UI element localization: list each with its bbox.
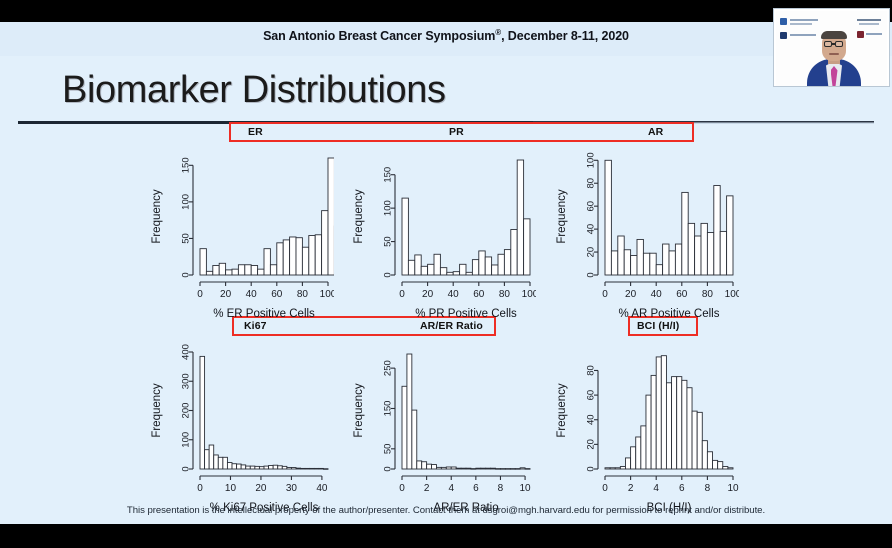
svg-text:2: 2 <box>424 483 430 494</box>
svg-text:150: 150 <box>181 157 192 173</box>
svg-text:% AR Positive Cells: % AR Positive Cells <box>619 308 720 320</box>
svg-text:10: 10 <box>520 483 532 494</box>
svg-text:4: 4 <box>653 483 659 494</box>
svg-text:60: 60 <box>271 289 283 300</box>
svg-text:60: 60 <box>586 390 597 401</box>
chart-er: 050100150020406080100% ER Positive Cells… <box>148 146 334 321</box>
svg-text:50: 50 <box>181 233 192 244</box>
svg-text:2: 2 <box>628 483 634 494</box>
symposium-title-pre: San Antonio Breast Cancer Symposium <box>263 29 495 43</box>
svg-text:20: 20 <box>220 289 232 300</box>
svg-text:6: 6 <box>679 483 685 494</box>
svg-text:80: 80 <box>297 289 309 300</box>
svg-text:60: 60 <box>676 289 688 300</box>
chart-ar: 020406080100020406080100% AR Positive Ce… <box>553 146 739 321</box>
svg-text:100: 100 <box>383 200 394 216</box>
letterbox-bottom <box>0 524 892 548</box>
svg-text:80: 80 <box>586 365 597 376</box>
svg-text:0: 0 <box>586 272 597 277</box>
svg-text:% PR Positive Cells: % PR Positive Cells <box>415 308 517 320</box>
svg-text:60: 60 <box>473 289 485 300</box>
presenter-figure <box>807 24 861 86</box>
page-title: Biomarker Distributions <box>62 69 446 112</box>
svg-text:20: 20 <box>422 289 434 300</box>
svg-text:100: 100 <box>181 432 192 448</box>
chart-arer: 0501502500246810AR/ER RatioFrequency <box>350 340 536 515</box>
svg-text:0: 0 <box>181 272 192 277</box>
svg-text:Frequency: Frequency <box>353 189 365 244</box>
svg-text:6: 6 <box>473 483 479 494</box>
svg-text:0: 0 <box>586 466 597 471</box>
screen: San Antonio Breast Cancer Symposium®, De… <box>0 0 892 548</box>
svg-text:0: 0 <box>399 289 405 300</box>
svg-text:250: 250 <box>383 360 394 376</box>
copyright-footer: This presentation is the intellectual pr… <box>0 505 892 516</box>
label-ar: AR <box>648 126 663 138</box>
svg-text:0: 0 <box>602 289 608 300</box>
svg-text:40: 40 <box>246 289 258 300</box>
label-ki67: Ki67 <box>244 320 267 332</box>
symposium-title: San Antonio Breast Cancer Symposium®, De… <box>0 28 892 43</box>
svg-text:0: 0 <box>602 483 608 494</box>
svg-text:50: 50 <box>383 444 394 455</box>
chart-bci: 0204060800246810BCI (H/I)Frequency <box>553 340 739 515</box>
svg-text:40: 40 <box>316 483 328 494</box>
svg-text:20: 20 <box>625 289 637 300</box>
svg-text:Frequency: Frequency <box>151 189 163 244</box>
chart-pr: 050100150020406080100% PR Positive Cells… <box>350 146 536 321</box>
svg-text:0: 0 <box>399 483 405 494</box>
svg-text:100: 100 <box>586 152 597 168</box>
svg-text:150: 150 <box>383 401 394 417</box>
label-er: ER <box>248 126 263 138</box>
svg-text:Frequency: Frequency <box>151 383 163 438</box>
svg-text:4: 4 <box>448 483 454 494</box>
label-pr: PR <box>449 126 464 138</box>
svg-text:80: 80 <box>702 289 714 300</box>
svg-text:60: 60 <box>586 201 597 212</box>
svg-text:% ER Positive Cells: % ER Positive Cells <box>213 308 315 320</box>
presentation-slide: San Antonio Breast Cancer Symposium®, De… <box>0 22 892 524</box>
svg-text:Frequency: Frequency <box>556 383 568 438</box>
svg-text:0: 0 <box>383 272 394 277</box>
svg-text:20: 20 <box>586 247 597 258</box>
svg-text:10: 10 <box>727 483 739 494</box>
presenter-webcam[interactable] <box>773 8 890 87</box>
svg-text:150: 150 <box>383 167 394 183</box>
svg-text:0: 0 <box>181 466 192 471</box>
svg-text:20: 20 <box>586 439 597 450</box>
letterbox-top <box>0 0 892 22</box>
svg-text:Frequency: Frequency <box>556 189 568 244</box>
svg-text:0: 0 <box>383 466 394 471</box>
chart-ki67: 0100200300400010203040% Ki67 Positive Ce… <box>148 340 334 515</box>
svg-text:50: 50 <box>383 236 394 247</box>
svg-text:80: 80 <box>499 289 511 300</box>
svg-text:8: 8 <box>705 483 711 494</box>
svg-text:10: 10 <box>225 483 237 494</box>
svg-text:40: 40 <box>586 224 597 235</box>
svg-text:100: 100 <box>522 289 536 300</box>
svg-text:80: 80 <box>586 178 597 189</box>
svg-text:300: 300 <box>181 373 192 389</box>
symposium-title-post: , December 8-11, 2020 <box>501 29 629 43</box>
webcam-inner <box>776 11 887 86</box>
svg-text:100: 100 <box>320 289 334 300</box>
svg-text:40: 40 <box>586 414 597 425</box>
svg-text:400: 400 <box>181 344 192 360</box>
svg-text:0: 0 <box>197 289 203 300</box>
svg-text:100: 100 <box>181 194 192 210</box>
svg-text:Frequency: Frequency <box>353 383 365 438</box>
svg-text:40: 40 <box>448 289 460 300</box>
svg-text:200: 200 <box>181 403 192 419</box>
svg-text:20: 20 <box>255 483 267 494</box>
svg-text:100: 100 <box>725 289 739 300</box>
svg-text:8: 8 <box>498 483 504 494</box>
label-bci: BCI (H/I) <box>637 320 679 332</box>
svg-text:0: 0 <box>197 483 203 494</box>
label-arer-ratio: AR/ER Ratio <box>420 320 483 332</box>
svg-text:40: 40 <box>651 289 663 300</box>
svg-text:30: 30 <box>286 483 298 494</box>
